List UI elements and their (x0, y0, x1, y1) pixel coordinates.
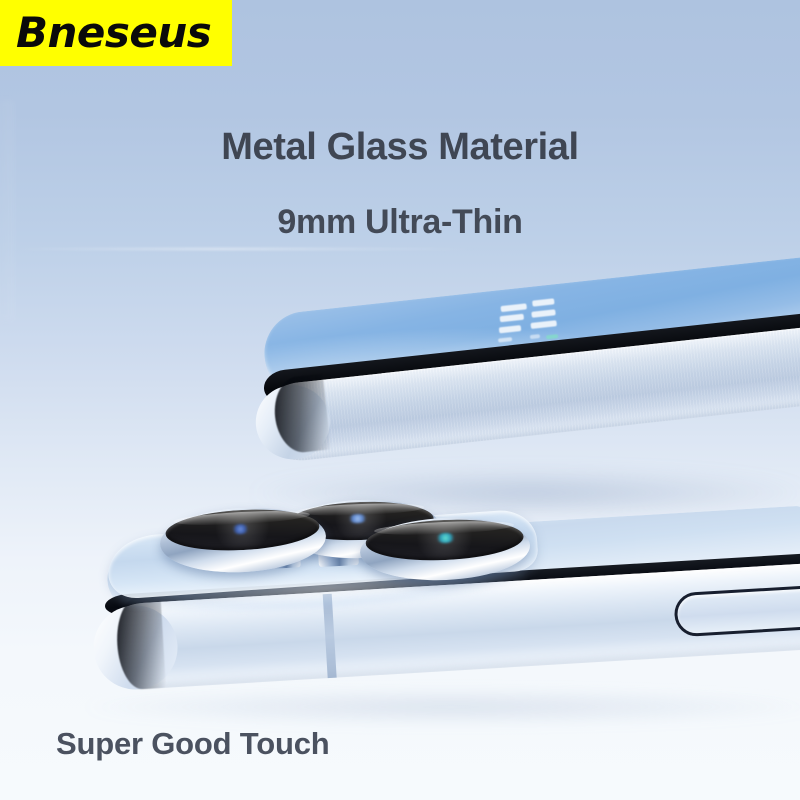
telephoto-lens (359, 514, 532, 583)
footer-caption: Super Good Touch (56, 726, 329, 762)
subheadline: 9mm Ultra-Thin (0, 203, 800, 242)
bottom-device-shadow (86, 690, 800, 724)
background-highlight-streak (10, 248, 480, 250)
product-banner: Bneseus Metal Glass Material 9mm Ultra-T… (0, 0, 800, 800)
top-device (238, 256, 800, 498)
brand-logo[interactable]: Bneseus (0, 0, 232, 66)
headline: Metal Glass Material (0, 126, 800, 169)
wide-lens (158, 504, 327, 577)
brand-logo-text: Bneseus (0, 12, 211, 54)
